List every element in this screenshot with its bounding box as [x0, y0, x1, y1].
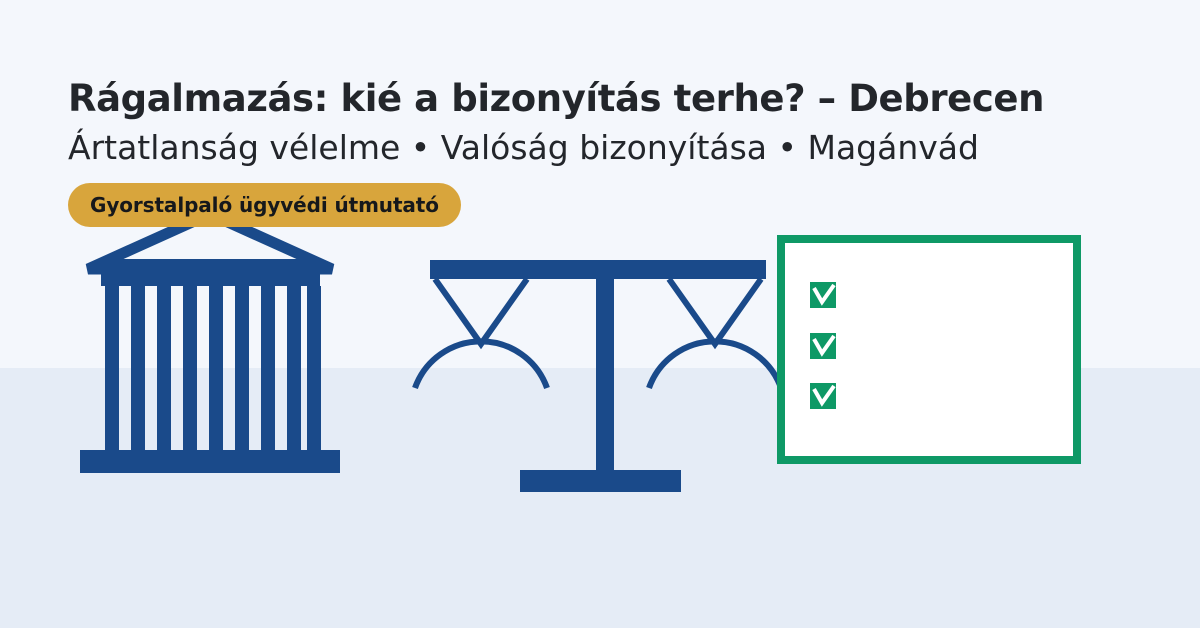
courthouse-column [287, 286, 301, 452]
scales-beam [430, 260, 766, 279]
checklist-card [781, 239, 1077, 460]
courthouse-entablature [101, 259, 320, 286]
scales-pan-left [415, 279, 547, 388]
checklist-item [810, 282, 836, 308]
checklist-item [810, 383, 836, 409]
checklist-item [810, 333, 836, 359]
courthouse-column [183, 286, 197, 452]
scales-base [520, 470, 681, 492]
courthouse-columns [105, 286, 321, 452]
courthouse-icon [80, 214, 340, 473]
courthouse-column [261, 286, 275, 452]
courthouse-base [80, 450, 340, 473]
courthouse-column [209, 286, 223, 452]
courthouse-column [235, 286, 249, 452]
scales-pan-left-chains [435, 279, 527, 344]
scales-icon [415, 260, 781, 492]
courthouse-column [157, 286, 171, 452]
status-badge: Gyorstalpaló ügyvédi útmutató [68, 183, 461, 227]
scales-pan-right-chains [669, 279, 761, 344]
scales-post [596, 279, 614, 471]
courthouse-column [307, 286, 321, 452]
courthouse-column [105, 286, 119, 452]
courthouse-column [131, 286, 145, 452]
page-subtitle: Ártatlanság vélelme • Valóság bizonyítás… [68, 126, 1168, 170]
infographic-canvas: Rágalmazás: kié a bizonyítás terhe? – De… [0, 0, 1200, 628]
scales-pan-right [649, 279, 781, 388]
page-title: Rágalmazás: kié a bizonyítás terhe? – De… [68, 76, 1158, 122]
